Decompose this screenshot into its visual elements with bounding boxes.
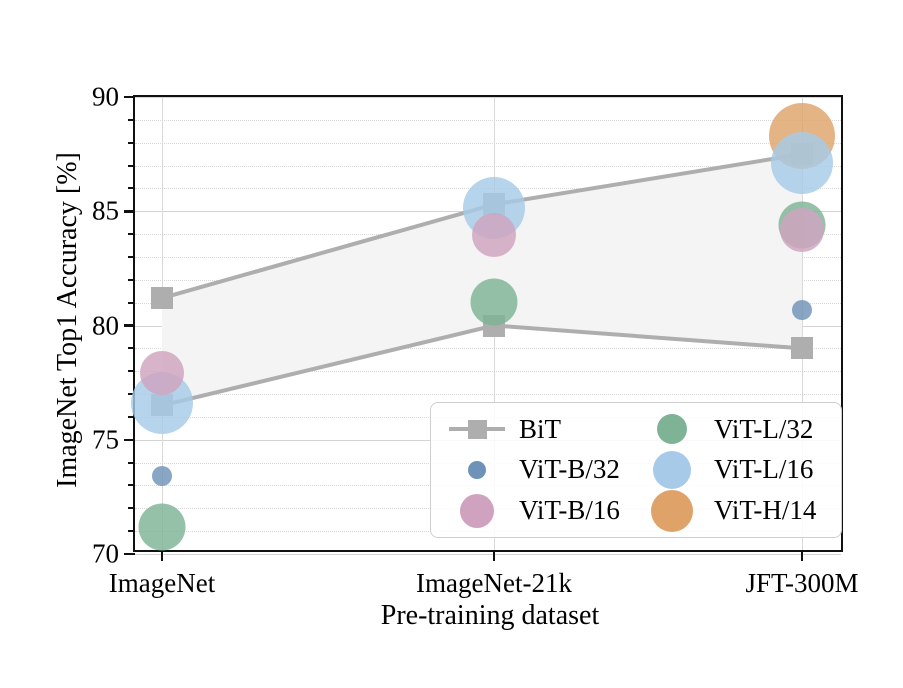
- y-tick-label: 85: [92, 196, 119, 227]
- legend-line: [449, 427, 505, 431]
- legend-dot-marker: [445, 494, 509, 528]
- legend-dot-marker: [640, 494, 704, 528]
- legend-item-vit-l-16[interactable]: ViT-L/16: [640, 450, 831, 491]
- x-tick-label: JFT-300M: [745, 568, 858, 599]
- data-point-vit-b-16: [140, 351, 184, 395]
- y-tick: [128, 530, 135, 532]
- legend-circle-icon: [468, 461, 486, 479]
- y-tick: [128, 119, 135, 121]
- legend-circle-icon: [651, 490, 693, 532]
- data-point-vit-l-32: [471, 278, 518, 325]
- y-tick: [128, 347, 135, 349]
- y-tick-label: 70: [92, 539, 119, 570]
- legend-dot-marker: [640, 412, 704, 446]
- y-tick: [128, 370, 135, 372]
- y-tick: [128, 187, 135, 189]
- y-tick: [128, 256, 135, 258]
- legend-circle-icon: [657, 414, 687, 444]
- x-tick-label: ImageNet: [109, 568, 215, 599]
- y-tick: [128, 302, 135, 304]
- legend-label: ViT-H/14: [714, 495, 816, 526]
- x-tick-label: ImageNet-21k: [416, 568, 572, 599]
- y-tick: [128, 484, 135, 486]
- data-point-vit-b-32: [792, 300, 812, 320]
- data-point-vit-l-32: [139, 503, 186, 550]
- y-tick-label: 90: [92, 82, 119, 113]
- y-tick: [124, 439, 135, 442]
- legend-item-vit-h-14[interactable]: ViT-H/14: [640, 490, 831, 531]
- data-point-vit-b-32: [152, 466, 172, 486]
- y-tick: [124, 210, 135, 213]
- y-tick: [128, 507, 135, 509]
- y-tick: [128, 279, 135, 281]
- x-axis-label: Pre-training dataset: [130, 600, 850, 632]
- legend-circle-icon: [653, 451, 691, 489]
- y-axis-label: ImageNet Top1 Accuracy [%]: [46, 90, 90, 550]
- legend-line-marker: [445, 412, 509, 446]
- bit-marker: [791, 337, 813, 359]
- y-tick: [124, 553, 135, 556]
- legend-item-bit[interactable]: BiT: [445, 409, 636, 450]
- legend-label: ViT-L/16: [714, 454, 813, 485]
- y-tick-label: 75: [92, 424, 119, 455]
- bit-marker: [151, 287, 173, 309]
- legend-dot-marker: [640, 453, 704, 487]
- data-point-vit-b-16: [780, 208, 824, 252]
- data-point-vit-l-16: [771, 132, 833, 194]
- y-tick: [128, 165, 135, 167]
- y-tick: [128, 233, 135, 235]
- y-tick: [124, 324, 135, 327]
- legend-circle-icon: [460, 494, 494, 528]
- legend-label: ViT-L/32: [714, 414, 813, 445]
- y-gridline-major: [135, 554, 841, 555]
- data-point-vit-b-16: [472, 213, 516, 257]
- legend-item-vit-b-32[interactable]: ViT-B/32: [445, 450, 636, 491]
- y-tick: [124, 96, 135, 99]
- legend-label: BiT: [519, 414, 561, 445]
- chart-figure: ImageNet Top1 Accuracy [%] Pre-training …: [0, 0, 903, 688]
- y-tick: [128, 142, 135, 144]
- legend-label: ViT-B/32: [519, 454, 620, 485]
- legend-item-vit-b-16[interactable]: ViT-B/16: [445, 490, 636, 531]
- legend-label: ViT-B/16: [519, 495, 620, 526]
- legend-item-vit-l-32[interactable]: ViT-L/32: [640, 409, 831, 450]
- legend-square-icon: [468, 420, 487, 439]
- y-tick: [128, 462, 135, 464]
- chart-legend[interactable]: BiTViT-L/32ViT-B/32ViT-L/16ViT-B/16ViT-H…: [430, 402, 842, 538]
- y-tick-label: 80: [92, 310, 119, 341]
- legend-dot-marker: [445, 453, 509, 487]
